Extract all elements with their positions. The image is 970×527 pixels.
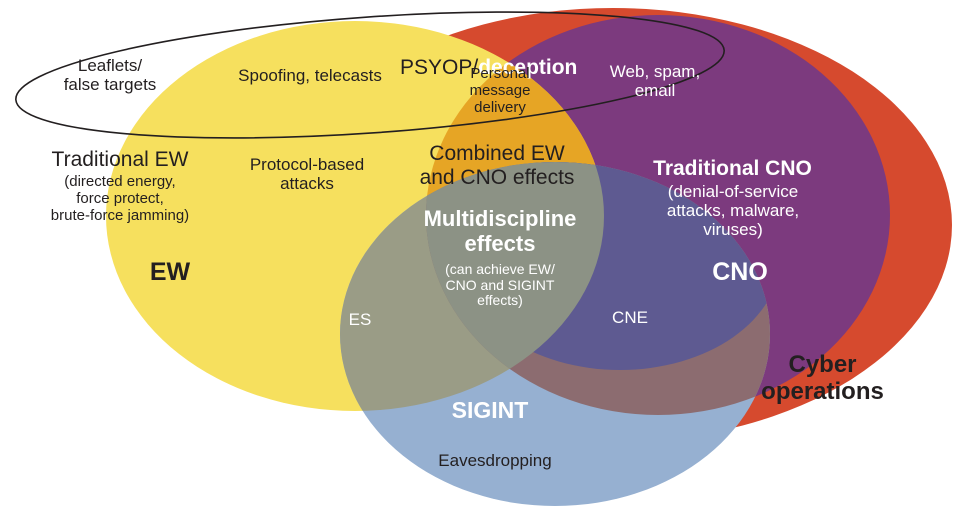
venn-diagram-svg xyxy=(0,0,970,527)
venn-diagram-page: Leaflets/ false targets Spoofing, teleca… xyxy=(0,0,970,527)
